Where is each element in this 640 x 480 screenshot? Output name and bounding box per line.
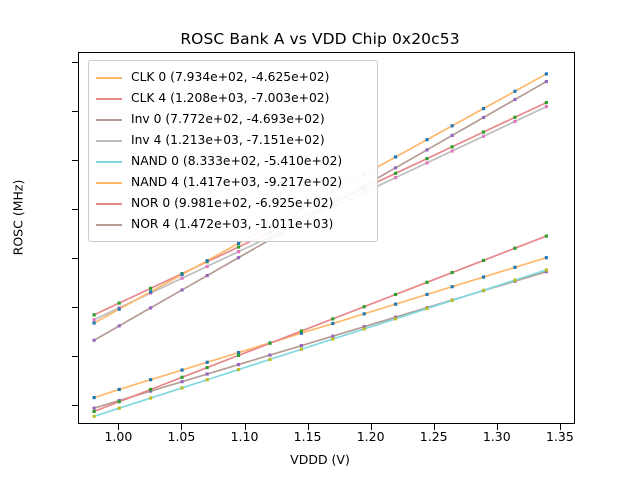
data-point bbox=[92, 321, 95, 324]
data-point bbox=[425, 281, 428, 284]
data-point bbox=[237, 256, 240, 259]
data-point bbox=[149, 306, 152, 309]
data-point bbox=[545, 72, 548, 75]
data-point bbox=[425, 307, 428, 310]
legend-item-label: CLK 0 (7.934e+02, -4.625e+02) bbox=[131, 71, 329, 83]
legend-color-swatch bbox=[96, 224, 122, 226]
data-point bbox=[92, 415, 95, 418]
series-nor-0 bbox=[92, 234, 547, 413]
data-point bbox=[118, 388, 121, 391]
legend-item[interactable]: Inv 4 (1.213e+03, -7.151e+02) bbox=[96, 130, 369, 151]
data-point bbox=[206, 274, 209, 277]
data-point bbox=[394, 166, 397, 169]
data-point bbox=[206, 366, 209, 369]
x-tick-label: 1.05 bbox=[168, 429, 196, 444]
data-point bbox=[545, 234, 548, 237]
data-point bbox=[237, 242, 240, 245]
data-point bbox=[451, 149, 454, 152]
data-point bbox=[118, 308, 121, 311]
data-point bbox=[451, 145, 454, 148]
data-point bbox=[331, 338, 334, 341]
data-point bbox=[149, 287, 152, 290]
data-point bbox=[363, 305, 366, 308]
data-point bbox=[425, 138, 428, 141]
x-tick-label: 1.35 bbox=[546, 429, 574, 444]
fit-line bbox=[94, 270, 546, 416]
data-point bbox=[545, 256, 548, 259]
data-point bbox=[482, 135, 485, 138]
data-point bbox=[513, 247, 516, 250]
data-point bbox=[394, 176, 397, 179]
legend-item-label: Inv 4 (1.213e+03, -7.151e+02) bbox=[131, 134, 325, 146]
data-point bbox=[482, 289, 485, 292]
data-point bbox=[482, 107, 485, 110]
data-point bbox=[268, 358, 271, 361]
data-point bbox=[331, 317, 334, 320]
x-tick-label: 1.10 bbox=[231, 429, 259, 444]
data-point bbox=[513, 266, 516, 269]
data-point bbox=[394, 155, 397, 158]
data-point bbox=[425, 148, 428, 151]
data-point bbox=[363, 327, 366, 330]
data-point bbox=[482, 130, 485, 133]
data-point bbox=[206, 259, 209, 262]
data-point bbox=[545, 101, 548, 104]
data-point bbox=[300, 329, 303, 332]
data-point bbox=[268, 342, 271, 345]
data-point bbox=[394, 317, 397, 320]
chart-title: ROSC Bank A vs VDD Chip 0x20c53 bbox=[0, 30, 640, 48]
fit-line bbox=[94, 258, 546, 398]
legend-color-swatch bbox=[96, 182, 122, 184]
data-point bbox=[92, 313, 95, 316]
data-point bbox=[180, 376, 183, 379]
legend-item-label: CLK 4 (1.208e+03, -7.003e+02) bbox=[131, 92, 329, 104]
legend-color-swatch bbox=[96, 140, 122, 142]
series-clk-0 bbox=[92, 256, 547, 399]
data-point bbox=[118, 407, 121, 410]
legend-item[interactable]: NOR 4 (1.472e+03, -1.011e+03) bbox=[96, 214, 369, 235]
matplotlib-figure: ROSC Bank A vs VDD Chip 0x20c53 ROSC (MH… bbox=[0, 0, 640, 480]
legend-item[interactable]: NAND 0 (8.333e+02, -5.410e+02) bbox=[96, 151, 369, 172]
data-point bbox=[180, 380, 183, 383]
data-point bbox=[513, 120, 516, 123]
data-point bbox=[425, 157, 428, 160]
data-point bbox=[451, 124, 454, 127]
data-point bbox=[513, 98, 516, 101]
legend-color-swatch bbox=[96, 203, 122, 205]
legend-item-label: NAND 4 (1.417e+03, -9.217e+02) bbox=[131, 176, 342, 188]
data-point bbox=[363, 312, 366, 315]
data-point bbox=[92, 407, 95, 410]
data-point bbox=[180, 288, 183, 291]
x-tick-label: 1.00 bbox=[104, 429, 132, 444]
data-point bbox=[300, 344, 303, 347]
data-point bbox=[237, 368, 240, 371]
data-point bbox=[545, 105, 548, 108]
data-point bbox=[206, 265, 209, 268]
data-point bbox=[513, 90, 516, 93]
legend-item[interactable]: NOR 0 (9.981e+02, -6.925e+02) bbox=[96, 193, 369, 214]
data-point bbox=[451, 285, 454, 288]
data-point bbox=[237, 250, 240, 253]
legend-item-label: Inv 0 (7.772e+02, -4.693e+02) bbox=[131, 113, 325, 125]
data-point bbox=[482, 275, 485, 278]
legend-item-label: NAND 0 (8.333e+02, -5.410e+02) bbox=[131, 155, 342, 167]
data-point bbox=[149, 290, 152, 293]
data-point bbox=[237, 351, 240, 354]
data-point bbox=[237, 363, 240, 366]
data-point bbox=[92, 318, 95, 321]
data-point bbox=[394, 293, 397, 296]
data-point bbox=[451, 271, 454, 274]
data-point bbox=[513, 279, 516, 282]
legend-color-swatch bbox=[96, 77, 122, 79]
data-point bbox=[149, 388, 152, 391]
data-point bbox=[545, 80, 548, 83]
legend-color-swatch bbox=[96, 98, 122, 100]
data-point bbox=[451, 134, 454, 137]
data-point bbox=[180, 277, 183, 280]
legend-item[interactable]: CLK 0 (7.934e+02, -4.625e+02) bbox=[96, 67, 369, 88]
data-point bbox=[206, 361, 209, 364]
data-point bbox=[482, 259, 485, 262]
data-point bbox=[394, 303, 397, 306]
data-point bbox=[425, 161, 428, 164]
data-point bbox=[118, 324, 121, 327]
data-point bbox=[513, 116, 516, 119]
data-point bbox=[300, 348, 303, 351]
data-point bbox=[331, 322, 334, 325]
data-point bbox=[206, 372, 209, 375]
data-point bbox=[180, 386, 183, 389]
data-point bbox=[149, 378, 152, 381]
legend-item[interactable]: CLK 4 (1.208e+03, -7.003e+02) bbox=[96, 88, 369, 109]
legend-item-label: NOR 4 (1.472e+03, -1.011e+03) bbox=[131, 218, 333, 230]
data-point bbox=[482, 116, 485, 119]
data-point bbox=[92, 396, 95, 399]
x-tick-label: 1.25 bbox=[420, 429, 448, 444]
data-point bbox=[545, 268, 548, 271]
x-axis-label: VDDD (V) bbox=[0, 452, 640, 467]
data-point bbox=[268, 354, 271, 357]
data-point bbox=[425, 293, 428, 296]
x-tick-label: 1.30 bbox=[483, 429, 511, 444]
legend-item[interactable]: Inv 0 (7.772e+02, -4.693e+02) bbox=[96, 109, 369, 130]
data-point bbox=[237, 354, 240, 357]
fit-line bbox=[94, 236, 546, 411]
data-point bbox=[237, 245, 240, 248]
y-axis-label: ROSC (MHz) bbox=[11, 153, 26, 283]
legend-item[interactable]: NAND 4 (1.417e+03, -9.217e+02) bbox=[96, 172, 369, 193]
data-point bbox=[118, 301, 121, 304]
legend-color-swatch bbox=[96, 119, 122, 121]
data-point bbox=[451, 299, 454, 302]
series-nand-0 bbox=[92, 268, 547, 418]
x-tick-label: 1.15 bbox=[294, 429, 322, 444]
data-point bbox=[149, 396, 152, 399]
data-point bbox=[331, 335, 334, 338]
data-point bbox=[180, 273, 183, 276]
data-point bbox=[180, 368, 183, 371]
data-point bbox=[394, 172, 397, 175]
x-tick-label: 1.20 bbox=[357, 429, 385, 444]
chart-legend: CLK 0 (7.934e+02, -4.625e+02)CLK 4 (1.20… bbox=[88, 60, 378, 242]
data-point bbox=[118, 400, 121, 403]
legend-color-swatch bbox=[96, 161, 122, 163]
data-point bbox=[92, 339, 95, 342]
data-point bbox=[206, 378, 209, 381]
data-point bbox=[92, 410, 95, 413]
legend-item-label: NOR 0 (9.981e+02, -6.925e+02) bbox=[131, 197, 333, 209]
